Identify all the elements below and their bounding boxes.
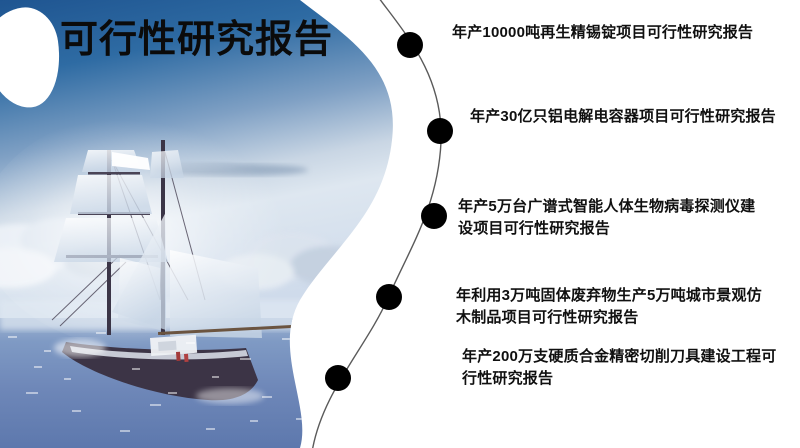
photo-panel <box>0 0 420 448</box>
list-item-1[interactable]: 年产10000吨再生精锡锭项目可行性研究报告 <box>452 22 792 44</box>
list-item-3[interactable]: 年产5万台广谱式智能人体生物病毒探测仪建设项目可行性研究报告 <box>458 196 758 240</box>
bullet-marker-3[interactable] <box>421 203 447 229</box>
list-item-4[interactable]: 年利用3万吨固体废弃物生产5万吨城市景观仿木制品项目可行性研究报告 <box>456 285 766 329</box>
list-item-2[interactable]: 年产30亿只铝电解电容器项目可行性研究报告 <box>470 106 780 128</box>
sailing-ship-image <box>0 0 420 448</box>
list-item-5[interactable]: 年产200万支硬质合金精密切削刀具建设工程可行性研究报告 <box>462 346 782 390</box>
slide-canvas: 可行性研究报告 年产10000吨再生精锡锭项目可行性研究报告 年产30亿只铝电解… <box>0 0 800 448</box>
page-title: 可行性研究报告 <box>60 20 333 62</box>
bullet-marker-2[interactable] <box>427 118 453 144</box>
